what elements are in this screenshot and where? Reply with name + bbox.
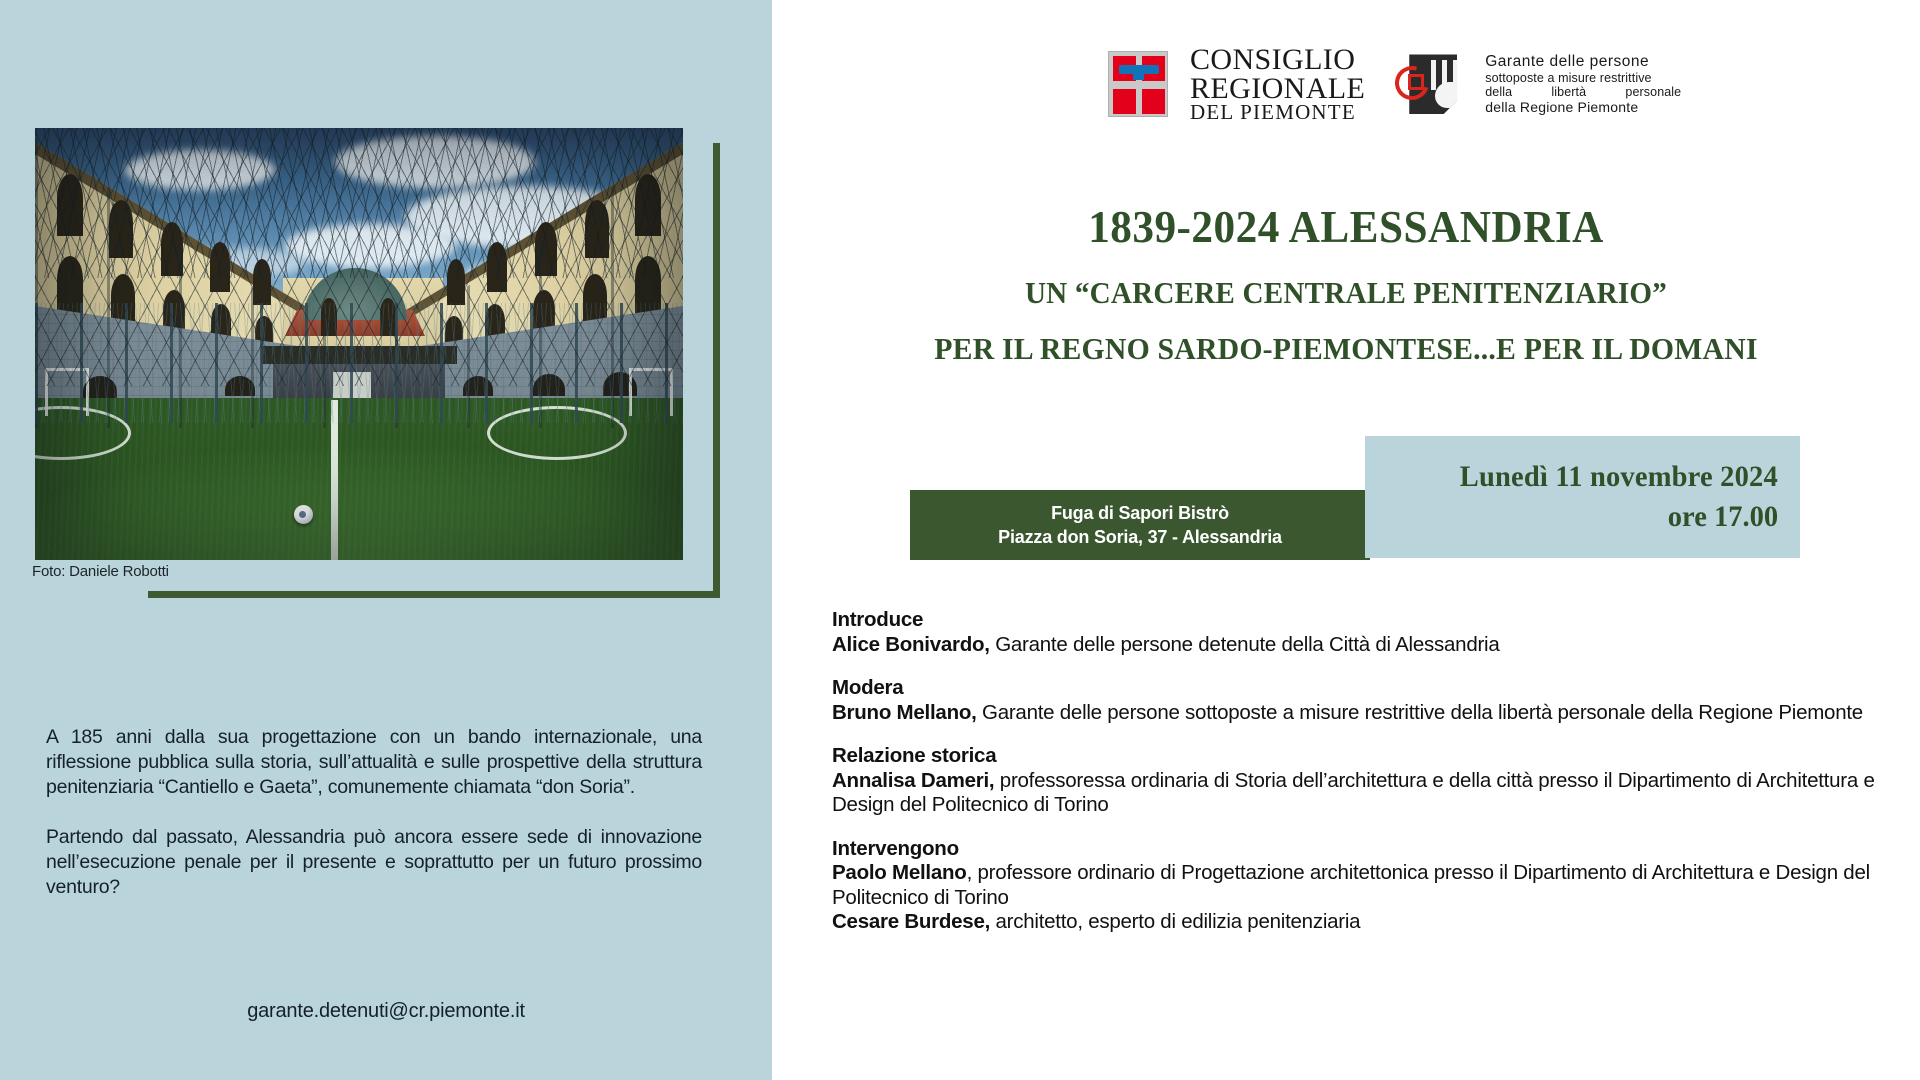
event-subtitle-2: PER IL REGNO SARDO-PIEMONTESE...E PER IL… — [795, 331, 1897, 367]
logo-bar: CONSIGLIO REGIONALE DEL PIEMONTE Garante… — [1108, 46, 1681, 123]
garante-red-square-icon — [1408, 74, 1424, 90]
consiglio-line-3: DEL PIEMONTE — [1190, 103, 1365, 123]
program-list: Introduce Alice Bonivardo, Garante delle… — [832, 608, 1887, 935]
speaker-role: Garante delle persone detenute della Cit… — [990, 633, 1500, 656]
consiglio-line-1: CONSIGLIO — [1190, 46, 1365, 75]
program-entry: Bruno Mellano, Garante delle persone sot… — [832, 701, 1887, 726]
garante-line-3-c: personale — [1625, 85, 1681, 99]
speaker-role: Garante delle persone sottoposte a misur… — [977, 701, 1863, 724]
right-panel: CONSIGLIO REGIONALE DEL PIEMONTE Garante… — [772, 0, 1920, 1080]
garante-wordmark: Garante delle persone sottoposte a misur… — [1485, 53, 1681, 115]
program-section-introduce: Introduce Alice Bonivardo, Garante delle… — [832, 608, 1887, 657]
garante-line-4: della Regione Piemonte — [1485, 100, 1681, 116]
venue-address: Piazza don Soria, 37 - Alessandria — [998, 525, 1282, 549]
crest-quadrant — [1113, 89, 1136, 114]
speaker-name: Cesare Burdese, — [832, 910, 990, 933]
program-entry: Paolo Mellano, professore ordinario di P… — [832, 861, 1887, 910]
speaker-role: architetto, esperto di edilizia penitenz… — [990, 910, 1360, 933]
program-entry: Alice Bonivardo, Garante delle persone d… — [832, 633, 1887, 658]
event-date: Lunedì 11 novembre 2024 — [1460, 460, 1778, 494]
venue-name: Fuga di Sapori Bistrò — [1051, 501, 1229, 525]
title-block: 1839-2024 ALESSANDRIA UN “CARCERE CENTRA… — [772, 200, 1920, 367]
garante-logo-icon — [1395, 52, 1457, 116]
accent-border-horizontal — [148, 591, 720, 598]
intro-paragraph-2: Partendo dal passato, Alessandria può an… — [46, 825, 702, 900]
intro-paragraph-1: A 185 anni dalla sua progettazione con u… — [46, 725, 702, 800]
piemonte-crest-icon — [1108, 51, 1168, 117]
speaker-role: , professore ordinario di Progettazione … — [832, 861, 1870, 909]
speaker-name: Annalisa Dameri, — [832, 769, 994, 792]
crest-quadrant — [1142, 89, 1165, 114]
program-section-relazione-storica: Relazione storica Annalisa Dameri, profe… — [832, 744, 1887, 818]
garante-line-2: sottoposte a misure restrittive — [1485, 71, 1681, 85]
program-entry: Cesare Burdese, architetto, esperto di e… — [832, 910, 1887, 935]
event-subtitle-1: UN “CARCERE CENTRALE PENITENZIARIO” — [806, 275, 1885, 311]
intro-text-block: A 185 anni dalla sua progettazione con u… — [46, 725, 702, 900]
program-entry: Annalisa Dameri, professoressa ordinaria… — [832, 769, 1887, 818]
consiglio-regionale-wordmark: CONSIGLIO REGIONALE DEL PIEMONTE — [1190, 46, 1365, 123]
program-heading: Intervengono — [832, 837, 1887, 862]
left-panel: Foto: Daniele Robotti A 185 anni dalla s… — [0, 0, 772, 1080]
photo-vignette — [35, 128, 683, 560]
event-title: 1839-2024 ALESSANDRIA — [806, 200, 1885, 253]
consiglio-line-2: REGIONALE — [1190, 75, 1365, 104]
date-box: Lunedì 11 novembre 2024 ore 17.00 — [1365, 436, 1800, 558]
venue-box: Fuga di Sapori Bistrò Piazza don Soria, … — [910, 490, 1370, 560]
garante-line-3: della libertà personale — [1485, 85, 1681, 99]
prison-courtyard-photo — [35, 128, 683, 560]
contact-email[interactable]: garante.detenuti@cr.piemonte.it — [0, 1000, 772, 1023]
program-heading: Modera — [832, 676, 1887, 701]
speaker-name: Alice Bonivardo, — [832, 633, 990, 656]
garante-line-1: Garante delle persone — [1485, 53, 1681, 71]
program-section-intervengono: Intervengono Paolo Mellano, professore o… — [832, 837, 1887, 935]
accent-border-vertical — [713, 143, 720, 598]
program-section-modera: Modera Bruno Mellano, Garante delle pers… — [832, 676, 1887, 725]
event-time: ore 17.00 — [1668, 500, 1778, 534]
photo-credit: Foto: Daniele Robotti — [32, 563, 169, 580]
prison-bar-icon — [1431, 60, 1436, 90]
speaker-name: Paolo Mellano — [832, 861, 967, 884]
crest-blue-stem — [1133, 65, 1144, 80]
garante-line-3-a: della — [1485, 85, 1512, 99]
hand-icon — [1435, 82, 1465, 108]
program-heading: Introduce — [832, 608, 1887, 633]
garante-line-3-b: libertà — [1551, 85, 1586, 99]
speaker-name: Bruno Mellano, — [832, 701, 977, 724]
program-heading: Relazione storica — [832, 744, 1887, 769]
